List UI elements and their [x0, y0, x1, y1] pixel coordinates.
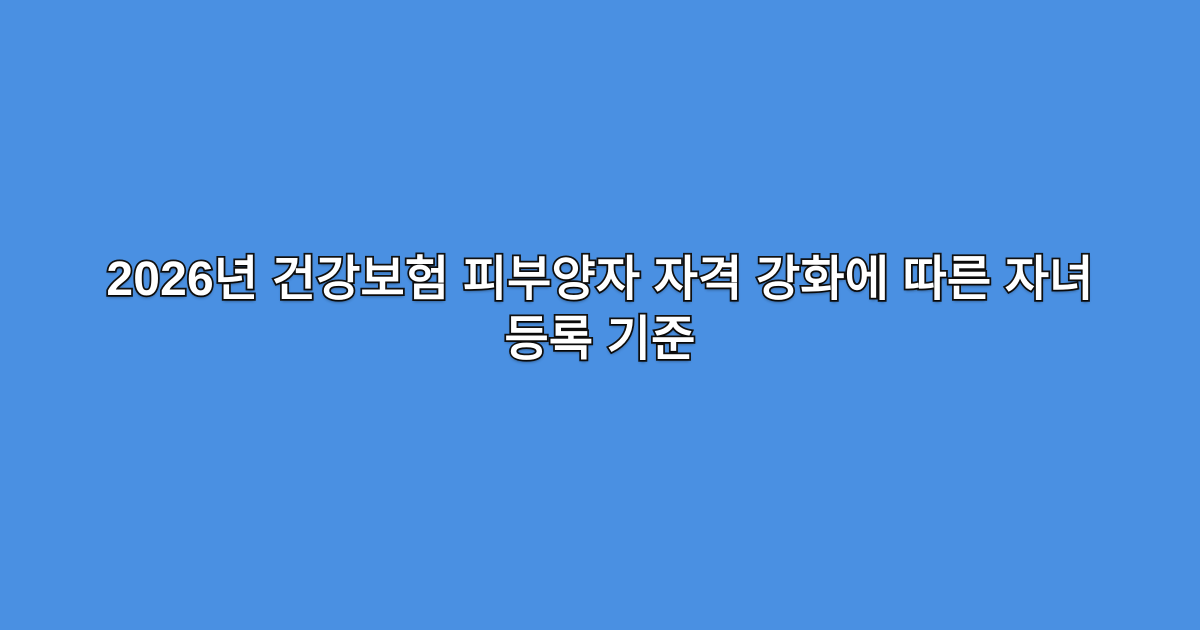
banner-card: 2026년 건강보험 피부양자 자격 강화에 따른 자녀 등록 기준 — [0, 0, 1200, 630]
page-title: 2026년 건강보험 피부양자 자격 강화에 따른 자녀 등록 기준 — [60, 250, 1140, 370]
page-title-line-2: 등록 기준 — [60, 310, 1140, 370]
page-title-line-1: 2026년 건강보험 피부양자 자격 강화에 따른 자녀 — [60, 250, 1140, 310]
headline-block: 2026년 건강보험 피부양자 자격 강화에 따른 자녀 등록 기준 — [60, 250, 1140, 370]
